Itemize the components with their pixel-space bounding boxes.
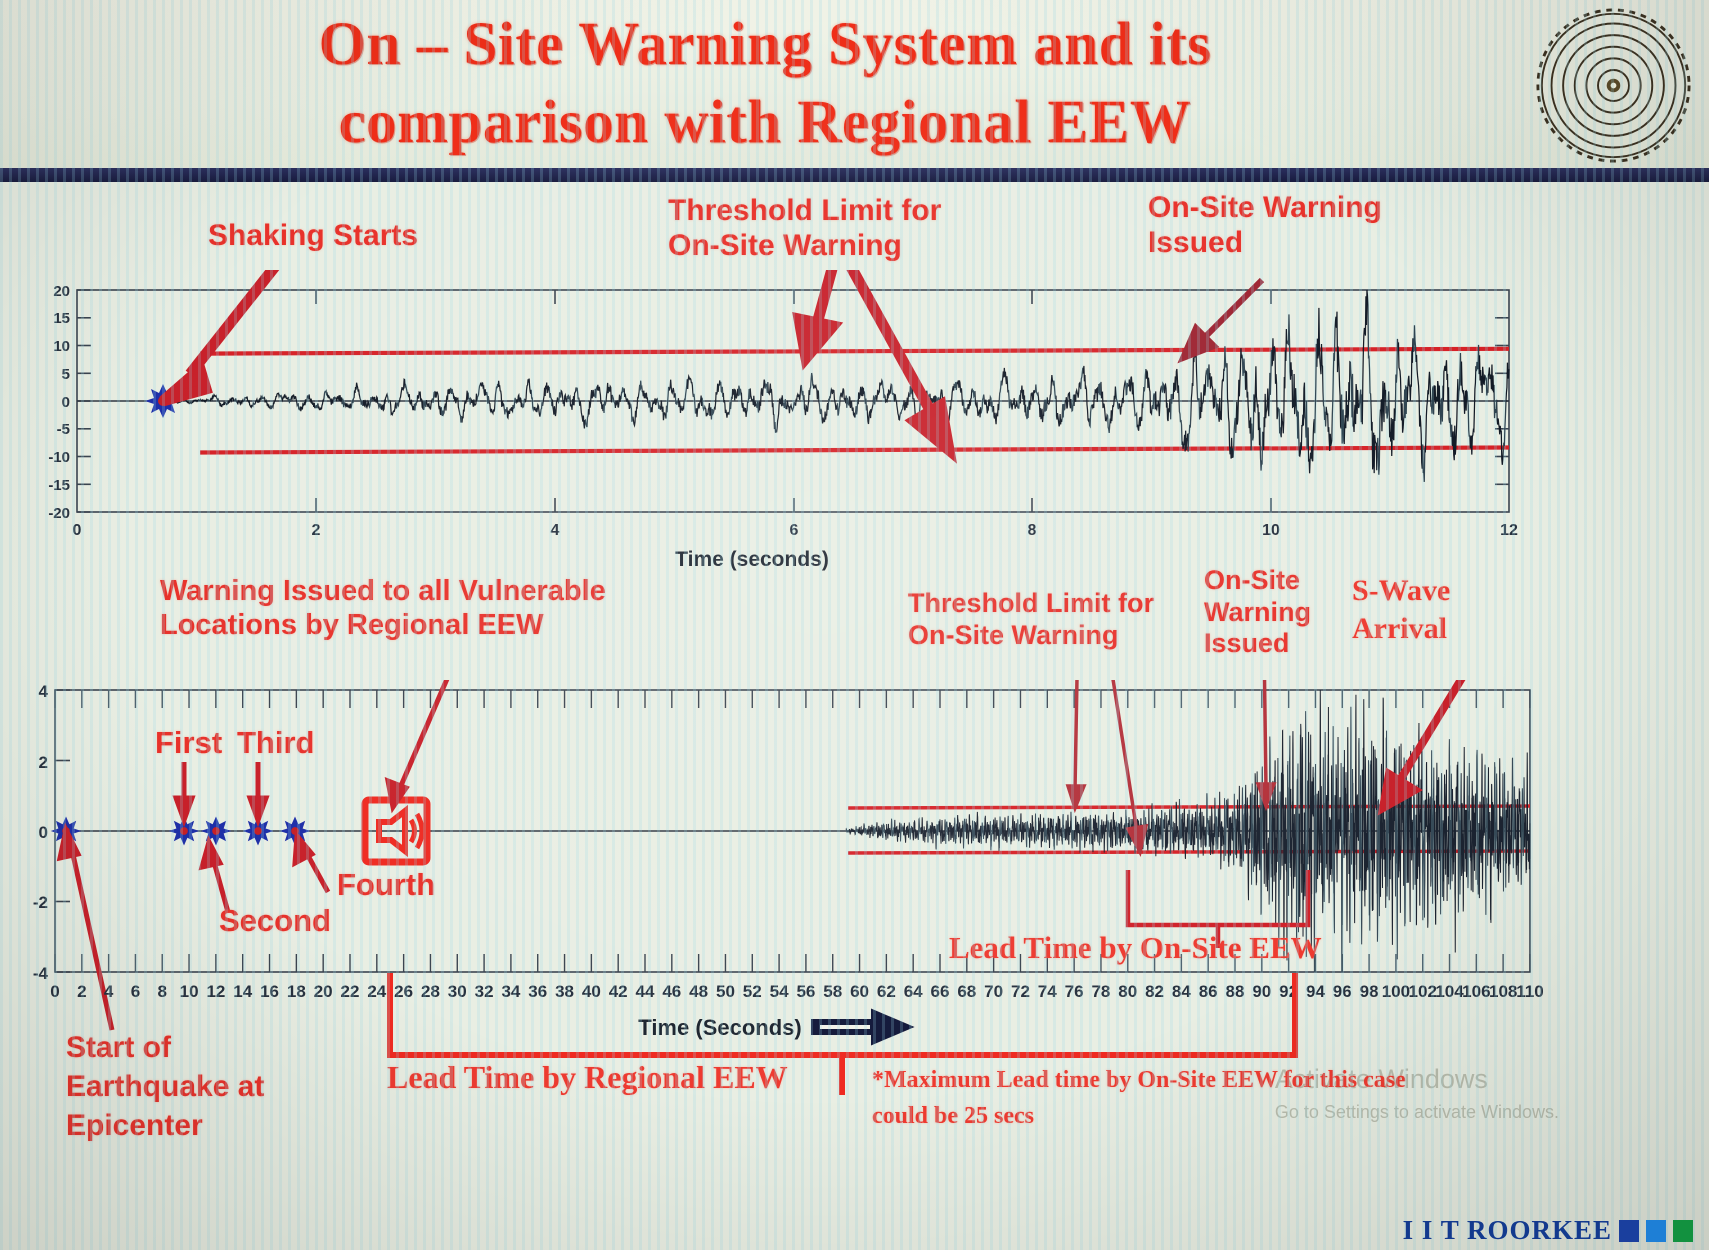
- svg-text:4: 4: [551, 522, 560, 539]
- brand-swatch-2: [1646, 1220, 1666, 1242]
- x-tick-label: 46: [662, 982, 681, 1001]
- x-tick-label: 100: [1382, 982, 1410, 1001]
- svg-text:0: 0: [39, 823, 48, 842]
- x-tick-label: 20: [314, 982, 333, 1001]
- x-tick-label: 86: [1199, 982, 1218, 1001]
- annotation-bottom-threshold-limit: Threshold Limit for On-Site Warning: [908, 588, 1154, 651]
- svg-text:20: 20: [53, 283, 70, 300]
- x-tick-label: 48: [689, 982, 708, 1001]
- time-direction-arrow-icon: [812, 1010, 912, 1044]
- svg-text:-2: -2: [33, 893, 48, 912]
- svg-text:10: 10: [53, 338, 70, 355]
- x-tick-label: 62: [877, 982, 896, 1001]
- arrow-first: [176, 762, 192, 820]
- annotation-first: First: [155, 725, 222, 761]
- header-divider: [0, 168, 1709, 182]
- x-tick-label: 78: [1091, 982, 1110, 1001]
- annotation-s-wave-line-1: S-Wave: [1352, 572, 1450, 610]
- annotation-footnote-line-1: *Maximum Lead time by On-Site EEW for th…: [872, 1062, 1406, 1098]
- svg-text:12: 12: [1500, 522, 1518, 539]
- x-tick-label: 52: [743, 982, 762, 1001]
- annotation-s-wave-line-2: Arrival: [1352, 610, 1450, 648]
- arrow-third: [250, 762, 266, 820]
- x-tick-label: 36: [528, 982, 547, 1001]
- arrow-second: [202, 842, 228, 912]
- svg-text:4: 4: [39, 682, 49, 701]
- x-tick-label: 26: [394, 982, 413, 1001]
- x-tick-label: 0: [50, 982, 59, 1001]
- chart-bottom-xaxis-label: Time (Seconds): [638, 1015, 801, 1040]
- svg-text:2: 2: [312, 522, 321, 539]
- annotation-fourth: Fourth: [337, 867, 435, 903]
- svg-text:10: 10: [1262, 522, 1280, 539]
- x-tick-label: 94: [1306, 982, 1325, 1001]
- x-tick-label: 88: [1226, 982, 1245, 1001]
- arrow-top-threshold-2: [845, 270, 949, 450]
- svg-text:-4: -4: [33, 964, 49, 983]
- marker-second: [201, 817, 232, 846]
- annotation-regional-warning-line-2: Locations by Regional EEW: [160, 609, 606, 643]
- svg-text:-15: -15: [48, 477, 70, 494]
- x-tick-label: 90: [1252, 982, 1271, 1001]
- page-title: On – Site Warning System and its compari…: [150, 6, 1380, 162]
- arrow-bottom-threshold: [1068, 680, 1084, 808]
- x-tick-label: 84: [1172, 982, 1191, 1001]
- x-tick-label: 6: [131, 982, 140, 1001]
- footer-brand: I I T ROORKEE: [1403, 1215, 1693, 1246]
- annotation-bottom-threshold-limit-line-2: On-Site Warning: [908, 620, 1154, 652]
- svg-text:6: 6: [790, 522, 799, 539]
- x-tick-label: 68: [957, 982, 976, 1001]
- x-tick-label: 38: [555, 982, 574, 1001]
- x-tick-label: 2: [77, 982, 86, 1001]
- annotation-bottom-warning-line-2: Warning: [1204, 597, 1311, 629]
- x-tick-label: 14: [233, 982, 252, 1001]
- x-tick-label: 102: [1409, 982, 1437, 1001]
- x-tick-label: 12: [206, 982, 225, 1001]
- x-tick-label: 76: [1065, 982, 1084, 1001]
- x-tick-label: 58: [823, 982, 842, 1001]
- arrow-top-threshold: [799, 270, 835, 358]
- annotation-footnote: *Maximum Lead time by On-Site EEW for th…: [872, 1062, 1406, 1134]
- annotation-lead-time-onsite: Lead Time by On-Site EEW: [949, 930, 1322, 966]
- annotation-s-wave-arrival: S-Wave Arrival: [1352, 572, 1450, 647]
- annotation-start-eq-line-3: Epicenter: [66, 1106, 264, 1145]
- annotation-footnote-line-2: could be 25 secs: [872, 1098, 1406, 1134]
- annotation-bottom-warning-line-1: On-Site: [1204, 565, 1311, 597]
- x-tick-label: 32: [475, 982, 494, 1001]
- svg-text:8: 8: [1028, 522, 1037, 539]
- annotation-second: Second: [219, 903, 331, 939]
- slide-header: On – Site Warning System and its compari…: [0, 0, 1709, 172]
- svg-text:-5: -5: [57, 421, 70, 438]
- annotation-regional-warning-line-1: Warning Issued to all Vulnerable: [160, 575, 606, 609]
- x-tick-label: 80: [1118, 982, 1137, 1001]
- page-title-line-2: comparison with Regional EEW: [150, 84, 1380, 162]
- x-tick-label: 22: [341, 982, 360, 1001]
- annotation-shaking-starts: Shaking Starts: [208, 218, 418, 253]
- annotation-top-warning-line-1: On-Site Warning: [1148, 190, 1382, 225]
- annotation-top-threshold-limit-line-1: Threshold Limit for: [668, 193, 941, 228]
- svg-text:15: 15: [53, 310, 70, 327]
- chart-top-xaxis-label: Time (seconds): [675, 548, 829, 571]
- arrow-top-warning-issued: [1183, 280, 1262, 358]
- x-tick-label: 110: [1516, 982, 1543, 1001]
- x-tick-label: 56: [796, 982, 815, 1001]
- annotation-bottom-threshold-limit-line-1: Threshold Limit for: [908, 588, 1154, 620]
- svg-text:5: 5: [62, 366, 70, 383]
- x-tick-label: 16: [260, 982, 279, 1001]
- svg-text:-10: -10: [48, 449, 70, 466]
- page-title-line-1: On – Site Warning System and its: [150, 6, 1380, 84]
- annotation-top-warning-line-2: Issued: [1148, 225, 1382, 260]
- svg-text:0: 0: [62, 394, 70, 411]
- chart-top-accelerogram: 20 15 10 5 0 -5 -10 -15 -20 0 2 4 6 8 10…: [0, 270, 1709, 580]
- annotation-third: Third: [237, 725, 315, 761]
- brand-swatch-1: [1619, 1220, 1639, 1242]
- iit-roorkee-seal-icon: [1536, 8, 1691, 163]
- x-tick-label: 54: [770, 982, 789, 1001]
- x-tick-label: 44: [636, 982, 655, 1001]
- x-tick-label: 24: [367, 982, 386, 1001]
- x-tick-label: 82: [1145, 982, 1164, 1001]
- threshold-line-upper-bottom: [848, 806, 1530, 808]
- x-tick-label: 34: [501, 982, 520, 1001]
- x-tick-label: 10: [180, 982, 199, 1001]
- brand-swatch-3: [1673, 1220, 1693, 1242]
- x-tick-label: 98: [1360, 982, 1379, 1001]
- threshold-line-upper: [200, 349, 1509, 354]
- annotation-regional-warning: Warning Issued to all Vulnerable Locatio…: [160, 575, 606, 643]
- arrow-fourth: [295, 836, 328, 892]
- annotation-top-onsite-warning-issued: On-Site Warning Issued: [1148, 190, 1382, 260]
- x-tick-label: 60: [850, 982, 869, 1001]
- x-tick-label: 28: [421, 982, 440, 1001]
- x-tick-label: 42: [609, 982, 628, 1001]
- footer-brand-text: I I T ROORKEE: [1403, 1215, 1612, 1246]
- annotation-start-of-earthquake: Start of Earthquake at Epicenter: [66, 1028, 264, 1145]
- arrow-regional-warning-to-icon: [388, 680, 450, 807]
- arrow-onsite-warning-bottom: [1258, 680, 1274, 806]
- slide-canvas: On – Site Warning System and its compari…: [0, 0, 1709, 1250]
- x-tick-label: 40: [582, 982, 601, 1001]
- x-tick-label: 66: [931, 982, 950, 1001]
- svg-text:0: 0: [73, 522, 82, 539]
- x-tick-label: 108: [1489, 982, 1517, 1001]
- annotation-top-threshold-limit: Threshold Limit for On-Site Warning: [668, 193, 941, 263]
- svg-text:2: 2: [39, 753, 48, 772]
- x-tick-label: 70: [984, 982, 1003, 1001]
- x-tick-label: 104: [1435, 982, 1464, 1001]
- x-tick-label: 96: [1333, 982, 1352, 1001]
- annotation-start-eq-line-2: Earthquake at: [66, 1067, 264, 1106]
- x-tick-label: 50: [716, 982, 735, 1001]
- x-tick-label: 74: [1038, 982, 1057, 1001]
- x-tick-label: 30: [448, 982, 467, 1001]
- x-tick-label: 8: [158, 982, 167, 1001]
- annotation-bottom-warning-line-3: Issued: [1204, 628, 1311, 660]
- annotation-lead-time-regional: Lead Time by Regional EEW: [387, 1059, 788, 1096]
- svg-text:-20: -20: [48, 505, 70, 522]
- x-tick-label: 72: [1011, 982, 1030, 1001]
- x-tick-label: 4: [104, 982, 114, 1001]
- annotation-start-eq-line-1: Start of: [66, 1028, 264, 1067]
- annotation-top-threshold-limit-line-2: On-Site Warning: [668, 228, 941, 263]
- annotation-bottom-onsite-warning-issued: On-Site Warning Issued: [1204, 565, 1311, 660]
- x-tick-label: 106: [1462, 982, 1490, 1001]
- x-tick-label: 18: [287, 982, 306, 1001]
- x-tick-label: 64: [904, 982, 923, 1001]
